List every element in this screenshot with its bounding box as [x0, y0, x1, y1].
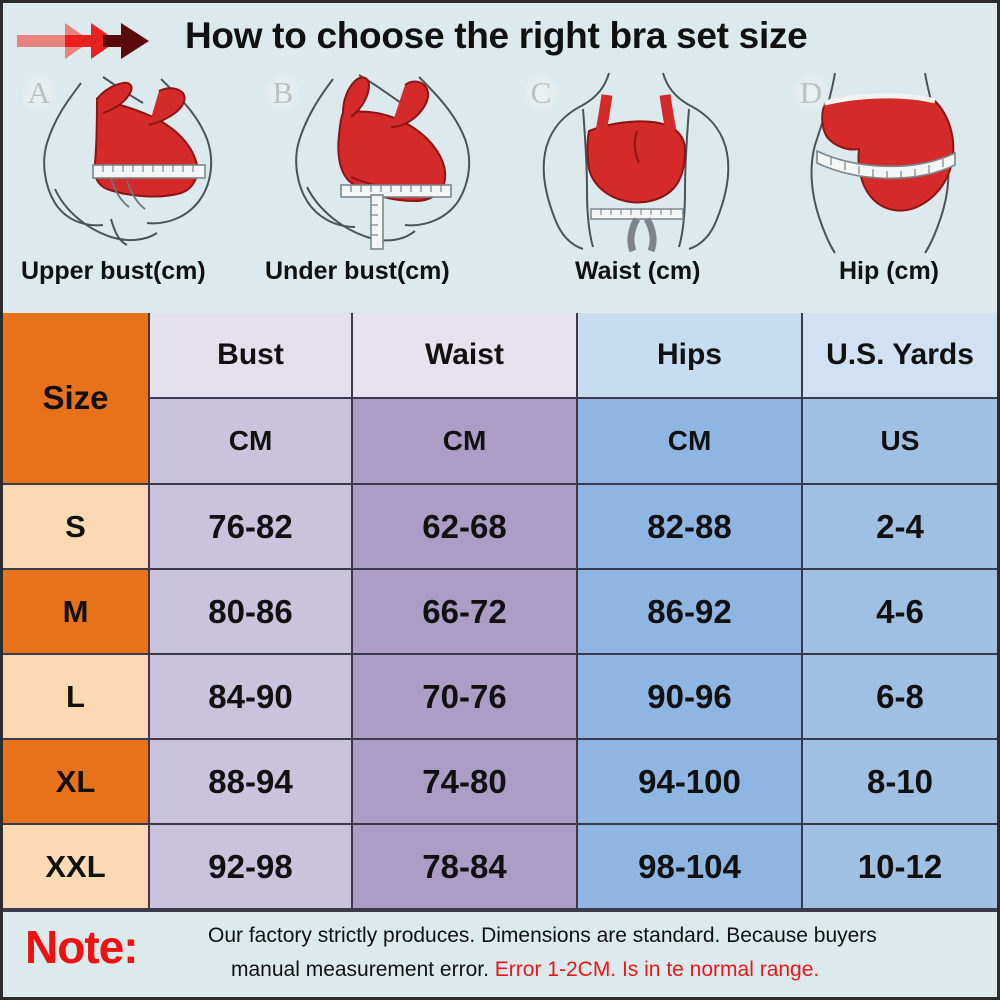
figure-upper-bust: A — [11, 69, 261, 254]
note-panel: Note: Our factory strictly produces. Dim… — [3, 910, 997, 999]
note-line-2-red: Error 1-2CM. Is in te normal range. — [495, 958, 819, 981]
table-row: M 80-86 66-72 86-92 4-6 — [3, 570, 997, 655]
row-waist-value: 62-68 — [353, 485, 578, 570]
figure-badge-d: D — [793, 73, 829, 113]
row-us-value: 4-6 — [803, 570, 997, 655]
note-label: Note: — [25, 920, 138, 974]
figure-caption-hip: Hip (cm) — [839, 257, 939, 297]
size-chart-image: How to choose the right bra set size — [0, 0, 1000, 1000]
row-us-value: 10-12 — [803, 825, 997, 910]
figure-badge-a: A — [21, 73, 57, 113]
table-header-row-measurements: Bust Waist Hips U.S. Yards — [3, 313, 997, 399]
row-bust-value: 76-82 — [150, 485, 353, 570]
table-row: XL 88-94 74-80 94-100 8-10 — [3, 740, 997, 825]
row-hips-value: 82-88 — [578, 485, 803, 570]
row-hips-value: 94-100 — [578, 740, 803, 825]
figure-badge-c: C — [523, 73, 559, 113]
row-bust-value: 88-94 — [150, 740, 353, 825]
figure-under-bust: B — [255, 69, 510, 254]
table-unit-waist: CM — [353, 399, 578, 485]
row-hips-value: 98-104 — [578, 825, 803, 910]
figure-hip: D — [783, 69, 993, 254]
title-row: How to choose the right bra set size — [3, 9, 997, 69]
note-line-2: manual measurement error. Error 1-2CM. I… — [231, 958, 1000, 982]
row-size-label: L — [3, 655, 150, 740]
table-unit-bust: CM — [150, 399, 353, 485]
arrow-dark-icon — [103, 23, 177, 59]
row-size-label: S — [3, 485, 150, 570]
row-hips-value: 90-96 — [578, 655, 803, 740]
figure-waist: C — [513, 69, 763, 254]
table-row: L 84-90 70-76 90-96 6-8 — [3, 655, 997, 740]
row-bust-value: 80-86 — [150, 570, 353, 655]
figure-caption-under-bust: Under bust(cm) — [265, 257, 450, 297]
table-unit-us: US — [803, 399, 997, 485]
table-header-waist: Waist — [353, 313, 578, 399]
size-table: Size Bust Waist Hips U.S. Yards CM CM CM… — [3, 313, 997, 910]
table-header-row-units: CM CM CM US — [3, 399, 997, 485]
row-bust-value: 84-90 — [150, 655, 353, 740]
row-bust-value: 92-98 — [150, 825, 353, 910]
row-size-label: XL — [3, 740, 150, 825]
table-row: S 76-82 62-68 82-88 2-4 — [3, 485, 997, 570]
row-waist-value: 70-76 — [353, 655, 578, 740]
triple-arrow-icon — [17, 23, 177, 59]
note-line-1: Our factory strictly produces. Dimension… — [208, 924, 988, 948]
row-hips-value: 86-92 — [578, 570, 803, 655]
row-us-value: 8-10 — [803, 740, 997, 825]
table-unit-hips: CM — [578, 399, 803, 485]
page-title: How to choose the right bra set size — [185, 15, 985, 57]
figure-caption-waist: Waist (cm) — [575, 257, 700, 297]
table-header-bust: Bust — [150, 313, 353, 399]
row-waist-value: 66-72 — [353, 570, 578, 655]
table-header-hips: Hips — [578, 313, 803, 399]
note-line-2-black: manual measurement error. — [231, 958, 495, 981]
row-size-label: M — [3, 570, 150, 655]
illustration-panel: How to choose the right bra set size — [3, 3, 997, 313]
row-waist-value: 74-80 — [353, 740, 578, 825]
row-waist-value: 78-84 — [353, 825, 578, 910]
row-size-label: XXL — [3, 825, 150, 910]
table-row: XXL 92-98 78-84 98-104 10-12 — [3, 825, 997, 910]
table-header-us-yards: U.S. Yards — [803, 313, 997, 399]
figure-caption-upper-bust: Upper bust(cm) — [21, 257, 206, 297]
row-us-value: 2-4 — [803, 485, 997, 570]
figure-badge-b: B — [265, 73, 301, 113]
row-us-value: 6-8 — [803, 655, 997, 740]
